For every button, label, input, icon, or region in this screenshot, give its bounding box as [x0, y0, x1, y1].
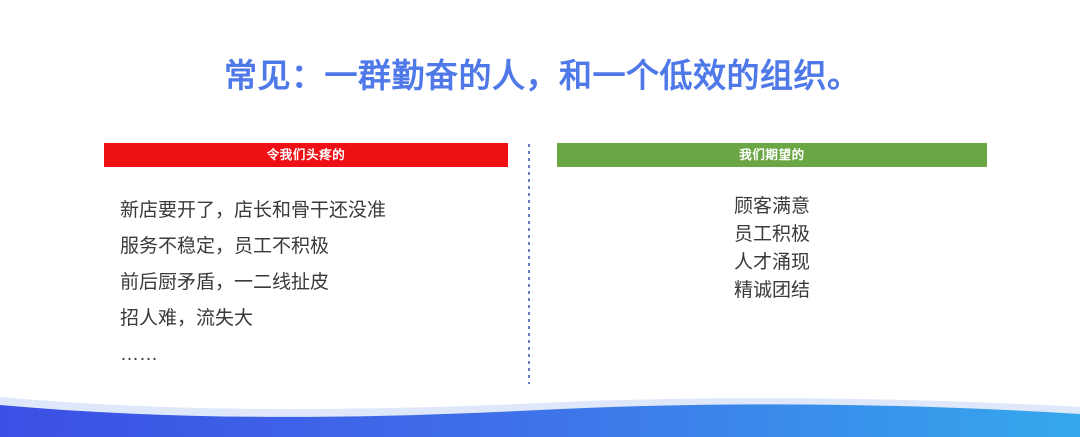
column-divider: [528, 144, 530, 384]
list-item: 前后厨矛盾，一二线扯皮: [120, 265, 508, 301]
list-item-ellipsis: ……: [120, 337, 508, 373]
wave-back-layer: [0, 397, 1080, 437]
expectations-banner: 我们期望的: [557, 143, 987, 167]
wave-front-layer: [0, 404, 1080, 437]
column-expectations: 我们期望的 顾客满意 员工积极 人才涌现 精诚团结: [557, 143, 987, 305]
list-item: 新店要开了，店长和骨干还没准: [120, 193, 508, 229]
slide-canvas: 常见：一群勤奋的人，和一个低效的组织。 令我们头疼的 新店要开了，店长和骨干还没…: [0, 0, 1080, 437]
bottom-wave-decoration: [0, 377, 1080, 437]
page-title: 常见：一群勤奋的人，和一个低效的组织。: [224, 54, 864, 98]
list-item: 顾客满意: [557, 193, 987, 221]
pain-points-body: 新店要开了，店长和骨干还没准 服务不稳定，员工不积极 前后厨矛盾，一二线扯皮 招…: [104, 193, 508, 373]
pain-points-banner: 令我们头疼的: [104, 143, 508, 167]
expectations-list: 顾客满意 员工积极 人才涌现 精诚团结: [557, 193, 987, 305]
column-pain-points: 令我们头疼的 新店要开了，店长和骨干还没准 服务不稳定，员工不积极 前后厨矛盾，…: [104, 143, 508, 373]
list-item: 招人难，流失大: [120, 301, 508, 337]
list-item: 员工积极: [557, 221, 987, 249]
list-item: 服务不稳定，员工不积极: [120, 229, 508, 265]
pain-points-list: 新店要开了，店长和骨干还没准 服务不稳定，员工不积极 前后厨矛盾，一二线扯皮 招…: [104, 193, 508, 373]
expectations-body: 顾客满意 员工积极 人才涌现 精诚团结: [557, 193, 987, 305]
list-item: 人才涌现: [557, 249, 987, 277]
list-item: 精诚团结: [557, 277, 987, 305]
